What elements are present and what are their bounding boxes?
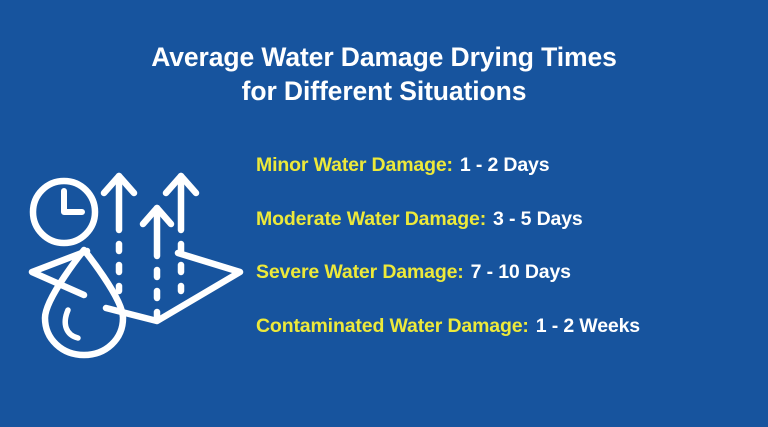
drying-time-value: 7 - 10 Days [471,261,571,283]
evaporation-arrow-icon [166,176,196,291]
list-item: Contaminated Water Damage:1 - 2 Weeks [256,317,756,371]
drying-time-value: 3 - 5 Days [493,208,583,230]
drying-process-icon [18,158,258,360]
damage-times-list: Minor Water Damage:1 - 2 Days Moderate W… [256,156,756,370]
floor-surface-icon [32,251,240,321]
page-title: Average Water Damage Drying Times for Di… [0,40,768,109]
drying-time-value: 1 - 2 Weeks [536,315,640,337]
damage-type-label: Contaminated Water Damage: [256,315,529,337]
damage-type-label: Moderate Water Damage: [256,208,486,230]
evaporation-arrow-icon [143,208,171,318]
title-line-1: Average Water Damage Drying Times [0,40,768,74]
list-item: Moderate Water Damage:3 - 5 Days [256,210,756,264]
damage-type-label: Minor Water Damage: [256,154,453,176]
list-item: Severe Water Damage:7 - 10 Days [256,263,756,317]
title-line-2: for Different Situations [0,74,768,108]
evaporation-arrow-icon [104,176,134,291]
clock-icon [33,181,95,243]
infographic-canvas: Average Water Damage Drying Times for Di… [0,0,768,427]
drying-time-value: 1 - 2 Days [460,154,550,176]
list-item: Minor Water Damage:1 - 2 Days [256,156,756,210]
damage-type-label: Severe Water Damage: [256,261,464,283]
